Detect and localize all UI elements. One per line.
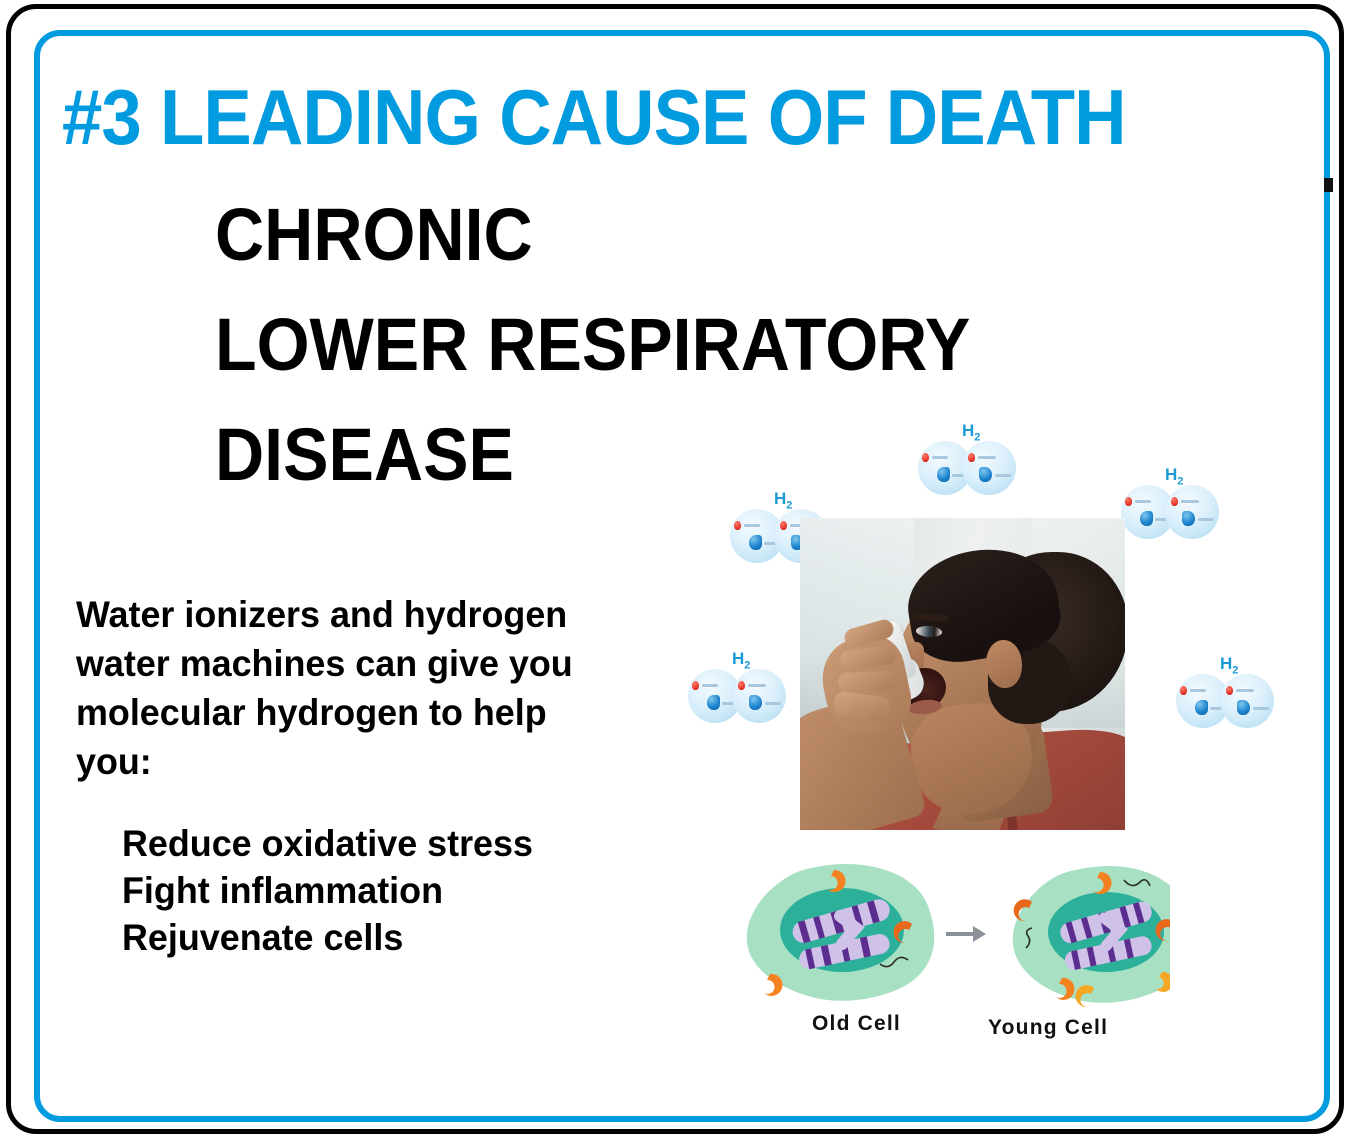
body-paragraph-line-2: water machines can give you: [76, 639, 629, 688]
proton-dot: [780, 521, 787, 530]
proton-dot: [692, 681, 699, 690]
label-tick: [1253, 707, 1269, 710]
inhaler-photo: [800, 518, 1125, 830]
hydrogen-molecule-top-center-icon: H2: [918, 422, 1022, 496]
label-tick: [1198, 518, 1214, 521]
benefit-item-1: Reduce oxidative stress: [122, 820, 665, 867]
benefit-item-3: Rejuvenate cells: [122, 914, 665, 961]
electron-cloud: [1140, 511, 1153, 526]
hydrogen-atom-right: [732, 669, 786, 723]
proton-dot: [734, 521, 741, 530]
headline-line-1: CHRONIC: [215, 180, 1135, 290]
slide-canvas: #3 LEADING CAUSE OF DEATH CHRONIC LOWER …: [0, 0, 1356, 1144]
label-tick: [1236, 689, 1254, 692]
electron-cloud: [749, 695, 762, 710]
hydrogen-molecule-lower-left-icon: H2: [688, 650, 792, 724]
body-paragraph-line-3: molecular hydrogen to help: [76, 688, 629, 737]
label-tick: [1190, 689, 1206, 692]
hydrogen-molecule-top-right-icon: H2: [1121, 466, 1225, 540]
electron-cloud: [979, 467, 992, 482]
proton-dot: [1125, 497, 1132, 506]
hydrogen-molecule-right-icon: H2: [1176, 655, 1280, 729]
proton-dot: [1180, 686, 1187, 695]
electron-cloud: [707, 695, 720, 710]
electron-cloud: [1195, 700, 1208, 715]
photo-ear: [986, 640, 1022, 688]
label-tick: [765, 702, 781, 705]
body-paragraph-line-1: Water ionizers and hydrogen: [76, 590, 629, 639]
label-tick: [932, 456, 948, 459]
headline-line-2: LOWER RESPIRATORY: [215, 290, 1135, 400]
young-cell-label: Young Cell: [988, 1016, 1108, 1040]
label-tick: [744, 524, 760, 527]
proton-dot: [1171, 497, 1178, 506]
body-paragraph-line-4: you:: [76, 737, 629, 786]
old-cell-group: [747, 864, 934, 1001]
benefit-item-2: Fight inflammation: [122, 867, 665, 914]
label-tick: [1181, 500, 1199, 503]
electron-cloud: [1182, 511, 1195, 526]
label-tick: [995, 474, 1011, 477]
hydrogen-atom-right: [962, 441, 1016, 495]
label-tick: [1135, 500, 1151, 503]
young-cell-group: [1013, 866, 1170, 1007]
transition-arrow-icon: [946, 926, 986, 942]
page-title: #3 LEADING CAUSE OF DEATH: [62, 72, 1206, 162]
hydrogen-atom-right: [1165, 485, 1219, 539]
electron-cloud: [749, 535, 762, 550]
electron-cloud: [937, 467, 950, 482]
edge-artifact-mark: [1324, 178, 1333, 192]
old-cell-label: Old Cell: [812, 1012, 901, 1036]
cell-rejuvenation-diagram: Old Cell Young Cell: [730, 852, 1170, 1052]
photo-finger: [838, 671, 897, 692]
proton-dot: [968, 453, 975, 462]
hydrogen-atom-right: [1220, 674, 1274, 728]
label-tick: [702, 684, 718, 687]
label-tick: [748, 684, 766, 687]
label-tick: [978, 456, 996, 459]
proton-dot: [738, 681, 745, 690]
proton-dot: [1226, 686, 1233, 695]
benefits-list: Reduce oxidative stress Fight inflammati…: [122, 820, 665, 961]
proton-dot: [922, 453, 929, 462]
electron-cloud: [1237, 700, 1250, 715]
body-paragraph: Water ionizers and hydrogen water machin…: [76, 590, 629, 786]
